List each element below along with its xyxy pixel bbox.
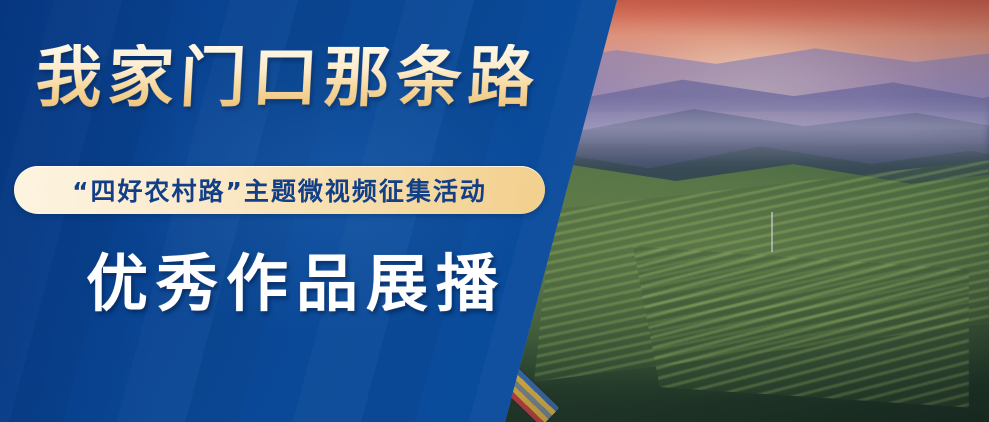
subtitle-pill: “四好农村路”主题微视频征集活动 xyxy=(14,166,545,214)
banner-tagline: 优秀作品展播 xyxy=(86,253,506,315)
subtitle-text: “四好农村路”主题微视频征集活动 xyxy=(72,172,487,208)
transmission-pylon xyxy=(771,212,773,252)
banner-headline: 我家门口那条路 xyxy=(34,44,541,110)
promo-banner: 我家门口那条路 “四好农村路”主题微视频征集活动 优秀作品展播 xyxy=(0,0,989,422)
